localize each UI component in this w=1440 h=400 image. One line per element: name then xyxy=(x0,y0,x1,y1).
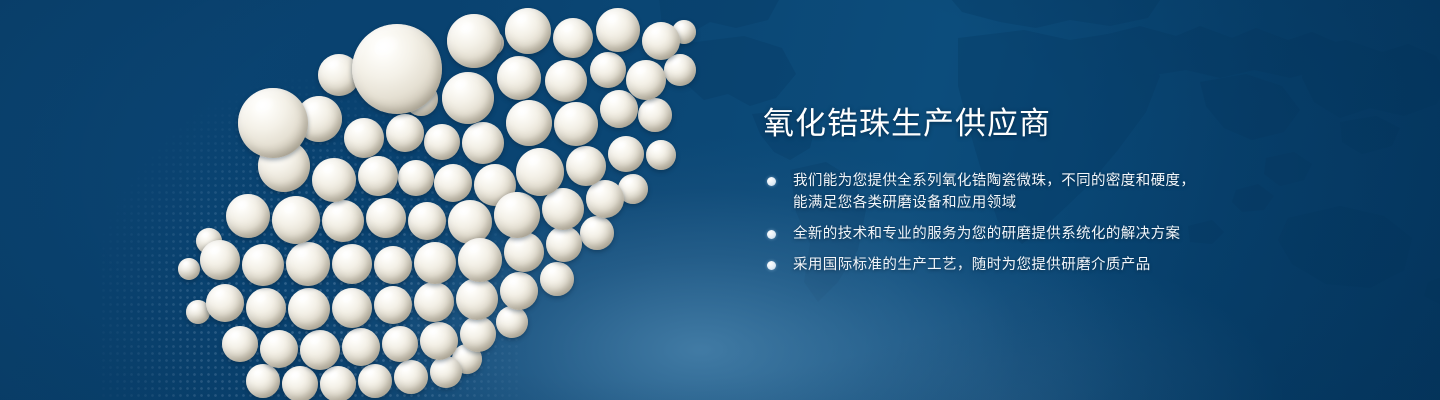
bullet-text-line: 全新的技术和专业的服务为您的研磨提供系统化的解决方案 xyxy=(793,223,1323,245)
hero-banner: 氧化锆珠生产供应商 我们能为您提供全系列氧化锆陶瓷微珠，不同的密度和硬度，能满足… xyxy=(0,0,1440,400)
feature-bullet-3: 采用国际标准的生产工艺，随时为您提供研磨介质产品 xyxy=(763,254,1323,276)
bullet-text-line: 我们能为您提供全系列氧化锆陶瓷微珠，不同的密度和硬度， xyxy=(793,170,1323,192)
page-title: 氧化锆珠生产供应商 xyxy=(763,104,1323,144)
feature-bullet-2: 全新的技术和专业的服务为您的研磨提供系统化的解决方案 xyxy=(763,223,1323,245)
bullet-dot-icon xyxy=(767,177,776,186)
bullet-dot-icon xyxy=(767,261,776,270)
bullet-dot-icon xyxy=(767,230,776,239)
feature-bullet-1: 我们能为您提供全系列氧化锆陶瓷微珠，不同的密度和硬度，能满足您各类研磨设备和应用… xyxy=(763,170,1323,214)
bullet-text-line: 采用国际标准的生产工艺，随时为您提供研磨介质产品 xyxy=(793,254,1323,276)
feature-bullet-list: 我们能为您提供全系列氧化锆陶瓷微珠，不同的密度和硬度，能满足您各类研磨设备和应用… xyxy=(763,170,1323,276)
banner-copy: 氧化锆珠生产供应商 我们能为您提供全系列氧化锆陶瓷微珠，不同的密度和硬度，能满足… xyxy=(763,104,1323,276)
bullet-text-line: 能满足您各类研磨设备和应用领域 xyxy=(793,192,1323,214)
